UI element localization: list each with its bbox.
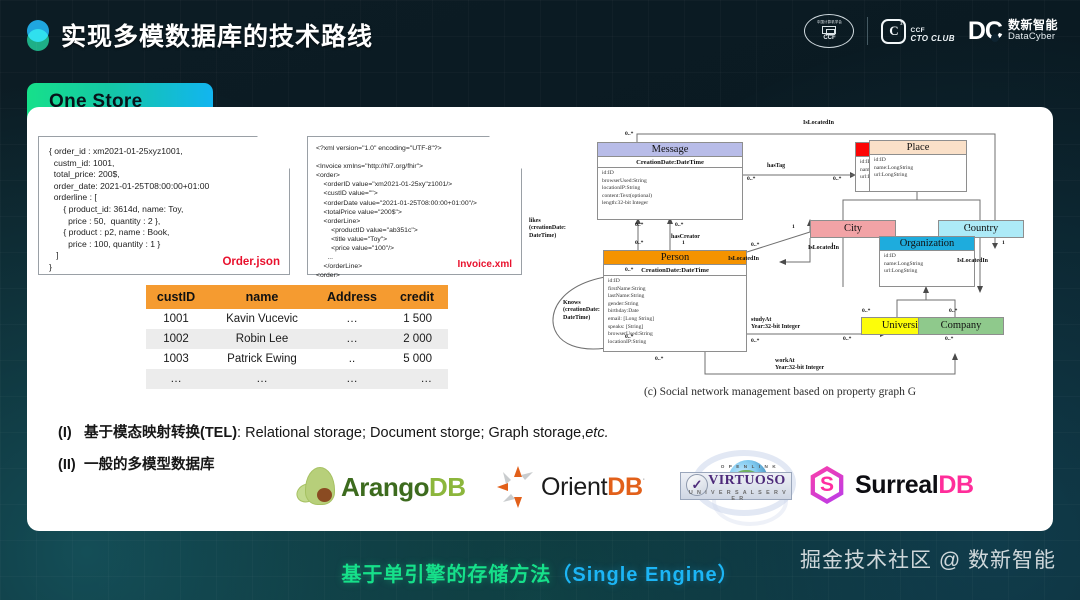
figure-caption: (c) Social network management based on p… xyxy=(525,386,1035,398)
dc-monogram-icon: DC xyxy=(968,17,1002,46)
relation-knows-label: Knows (creationDate: DateTime) xyxy=(563,300,619,322)
cell-address: .. xyxy=(318,349,386,369)
cell-name: … xyxy=(206,369,318,389)
multiplicity-marker: 1 xyxy=(968,224,971,230)
multiplicity-marker: 1 xyxy=(831,242,834,248)
slide-header: 实现多模数据库的技术路线 中国计算机学会 CCF C 3 CCF CTO CLU… xyxy=(0,0,1080,66)
multiplicity-marker: 0..* xyxy=(843,336,851,342)
datacyber-en-name: DataCyber xyxy=(1008,31,1058,42)
multiplicity-marker: 1 xyxy=(682,240,685,246)
column-header-credit: credit xyxy=(386,285,448,309)
virtuoso-logo: ✓ O P E N L I N K VIRTUOSO U N I V E R S… xyxy=(678,458,796,516)
multiplicity-marker: 1 xyxy=(1002,240,1005,246)
relational-table: custID name Address credit 1001 Kavin Vu… xyxy=(146,285,448,389)
cto-mark-letter: C xyxy=(889,23,898,39)
cell-address: … xyxy=(318,369,386,389)
multiplicity-marker: 0..* xyxy=(751,338,759,344)
entity-company-title: Company xyxy=(919,318,1003,333)
globe-icon: ✓ O P E N L I N K VIRTUOSO U N I V E R S… xyxy=(678,458,796,516)
entity-place-attributes: id:ID name:LongString url:LongString xyxy=(870,155,966,182)
entity-message-attributes: id:ID browserUsed:String locationIP:Stri… xyxy=(598,168,742,210)
cell-address: … xyxy=(318,309,386,329)
bullet-2-cn: 一般的多模型数据库 xyxy=(84,453,215,474)
ccf-mark-text: CCF xyxy=(823,35,835,42)
multiplicity-marker: 0..* xyxy=(747,176,755,182)
cto-line2: CTO CLUB xyxy=(910,35,954,43)
multiplicity-marker: 0..* xyxy=(625,267,633,273)
cell-credit: 1 500 xyxy=(386,309,448,329)
table-row: … … … … xyxy=(146,369,448,389)
cto-c-mark-icon: C 3 xyxy=(881,19,906,44)
arangodb-logo: ArangoDB xyxy=(297,466,466,508)
virtuoso-sub-text: U N I V E R S A L S E R V E R xyxy=(686,490,790,502)
table-header-row: custID name Address credit xyxy=(146,285,448,309)
watermark: 掘金技术社区 @ 数新智能 xyxy=(800,544,1056,574)
cto-mark-sup: 3 xyxy=(900,22,903,27)
invoice-xml-label: Invoice.xml xyxy=(458,260,512,269)
page-title-text: 实现多模数据库的技术路线 xyxy=(61,17,373,53)
hex-s-icon: S xyxy=(808,466,846,504)
relation-is-located-in-top-label: IsLocatedIn xyxy=(803,120,834,127)
relation-work-at-label: workAt Year:32-bit Integer xyxy=(775,358,873,373)
invoice-xml-document: <?xml version="1.0" encoding="UTF-8"?> <… xyxy=(307,136,522,275)
entity-message-subtitle: CreationDate:DateTime xyxy=(598,157,742,168)
table-row: 1001 Kavin Vucevic … 1 500 xyxy=(146,309,448,329)
cell-custid: 1003 xyxy=(146,349,206,369)
entity-company: Company xyxy=(918,317,1004,335)
multiplicity-marker: 0..* xyxy=(635,240,643,246)
ccf-cto-club-logo-icon: C 3 CCF CTO CLUB xyxy=(881,19,954,44)
avocado-icon xyxy=(297,466,341,508)
trademark-icon: ˙ xyxy=(643,477,646,487)
property-graph-figure: Message CreationDate:DateTime id:ID brow… xyxy=(525,112,1035,400)
bullet-1-cn: 基于模态映射转换(TEL) xyxy=(84,421,237,442)
arangodb-name-a: Arango xyxy=(341,472,429,502)
arangodb-name-b: DB xyxy=(429,472,466,502)
virtuoso-name: VIRTUOSO xyxy=(704,473,790,489)
multiplicity-marker: 0..* xyxy=(675,222,683,228)
cell-name: Kavin Vucevic xyxy=(206,309,318,329)
cell-custid: 1001 xyxy=(146,309,206,329)
multiplicity-marker: 0..* xyxy=(635,222,643,228)
surrealdb-name-b: DB xyxy=(938,471,973,499)
multiplicity-marker: 0..* xyxy=(751,242,759,248)
bullet-2-number: (II) xyxy=(58,457,84,473)
multiplicity-marker: 0..* xyxy=(945,336,953,342)
entity-city-title: City xyxy=(811,221,895,236)
order-json-label: Order.json xyxy=(222,257,280,269)
multiplicity-marker: 0..* xyxy=(655,356,663,362)
cell-name: Robin Lee xyxy=(206,329,318,349)
relation-study-at-label: studyAt Year:32-bit Integer xyxy=(751,317,847,332)
starburst-icon xyxy=(495,464,541,510)
multiplicity-marker: 0..* xyxy=(625,131,633,137)
relation-has-tag-label: hasTag xyxy=(767,163,785,170)
relation-likes-label: likes (creationDate: DateTime) xyxy=(529,218,583,240)
cell-credit: 5 000 xyxy=(386,349,448,369)
orientdb-name-a: Orient xyxy=(541,473,607,501)
ccf-logo-icon: 中国计算机学会 CCF xyxy=(804,14,854,48)
entity-person-title: Person xyxy=(604,251,746,265)
logo-divider xyxy=(867,17,868,45)
relation-has-creator-label: hasCreator xyxy=(671,234,700,241)
multiplicity-marker: 0..* xyxy=(862,308,870,314)
dc-monogram-text: DC xyxy=(968,17,1002,46)
cell-credit: … xyxy=(386,369,448,389)
orientdb-logo: OrientDB˙ xyxy=(495,464,646,510)
multiplicity-marker: 1 xyxy=(792,224,795,230)
relation-is-located-in-country-label: IsLocatedIn xyxy=(808,245,839,252)
entity-organization-title: Organization xyxy=(880,237,974,251)
ccf-diamond-icon xyxy=(822,26,836,34)
bullet-1-number: (I) xyxy=(58,425,84,441)
footer-caption-en: （Single Engine） xyxy=(551,564,738,586)
bullet-1-en: : Relational storage; Document storge; G… xyxy=(237,425,585,441)
orientdb-name-b: DB xyxy=(607,473,643,501)
datacyber-logo-icon: DC 数新智能 DataCyber xyxy=(968,17,1058,46)
surrealdb-name-a: Surreal xyxy=(855,471,938,499)
cell-address: … xyxy=(318,329,386,349)
table-row: 1003 Patrick Ewing .. 5 000 xyxy=(146,349,448,369)
multiplicity-marker: 0..* xyxy=(625,334,633,340)
surrealdb-logo: S SurrealDB xyxy=(808,466,974,504)
page-title: 实现多模数据库的技术路线 xyxy=(27,17,373,53)
footer-caption-cn: 基于单引擎的存储方法 xyxy=(341,564,551,586)
multiplicity-marker: 0..* xyxy=(949,308,957,314)
table-row: 1002 Robin Lee … 2 000 xyxy=(146,329,448,349)
order-json-document: { order_id : xm2021-01-25xyz1001, custm_… xyxy=(38,136,290,275)
entity-place: Place id:ID name:LongString url:LongStri… xyxy=(869,140,967,192)
entity-message-title: Message xyxy=(598,143,742,157)
multiplicity-marker: 0..* xyxy=(833,176,841,182)
bullet-item-1: (I) 基于模态映射转换(TEL) : Relational storage; … xyxy=(58,421,818,442)
cell-credit: 2 000 xyxy=(386,329,448,349)
ccf-ring-text: 中国计算机学会 xyxy=(817,20,842,25)
entity-country-title: Country xyxy=(939,221,1023,236)
column-header-custid: custID xyxy=(146,285,206,309)
column-header-name: name xyxy=(206,285,318,309)
slide-footer: 基于单引擎的存储方法（Single Engine） 掘金技术社区 @ 数新智能 xyxy=(0,544,1080,600)
relation-is-located-in-right-label: IsLocatedIn xyxy=(957,258,988,265)
bullet-1-italic: etc. xyxy=(585,425,608,441)
entity-message: Message CreationDate:DateTime id:ID brow… xyxy=(597,142,743,220)
sponsor-logos: 中国计算机学会 CCF C 3 CCF CTO CLUB DC 数新智能 Dat… xyxy=(804,14,1058,48)
cell-custid: … xyxy=(146,369,206,389)
bubble-logo-icon xyxy=(27,20,49,50)
virtuoso-top-text: O P E N L I N K xyxy=(708,464,790,469)
entity-place-title: Place xyxy=(870,141,966,155)
datacyber-cn-name: 数新智能 xyxy=(1008,20,1058,31)
vendor-logo-row: ArangoDB OrientDB˙ ✓ O P E N L I N K xyxy=(290,458,1030,520)
cell-name: Patrick Ewing xyxy=(206,349,318,369)
column-header-address: Address xyxy=(318,285,386,309)
relation-is-located-in-city-label: IsLocatedIn xyxy=(728,256,759,263)
cell-custid: 1002 xyxy=(146,329,206,349)
